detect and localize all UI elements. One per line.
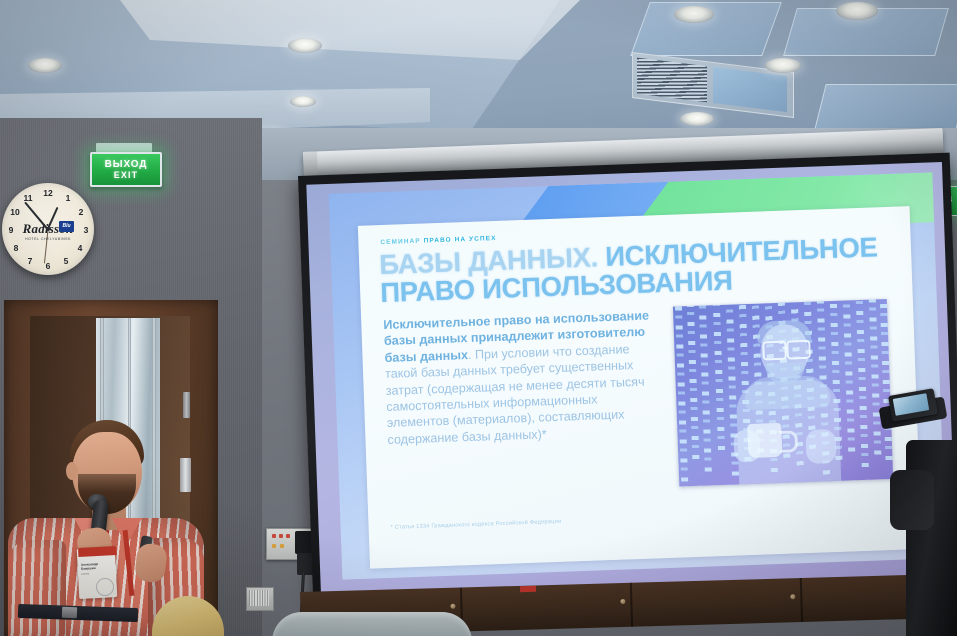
hvac-grille	[637, 58, 707, 103]
ceiling-downlight	[288, 38, 322, 53]
projector-screen-housing-cap	[303, 151, 318, 178]
slide-body-text: Исключительное право на использование ба…	[383, 307, 656, 448]
av-indicator-light	[272, 544, 276, 548]
ceiling-downlight	[290, 96, 316, 107]
clock-numeral: 4	[74, 244, 86, 253]
exit-sign-label-ru: ВЫХОД	[105, 159, 148, 170]
audience-chair	[272, 612, 472, 636]
wall-clock: 12 1 2 3 4 5 6 7 8 9 10 11 Radisson Blu …	[2, 183, 94, 275]
screen-surface: СЕМИНАР ПРАВО НА УСПЕХ БАЗЫ ДАННЫХ. ИСКЛ…	[306, 162, 956, 598]
slide-image-person	[725, 317, 849, 485]
clock-numeral: 2	[75, 208, 87, 217]
cabinet-seam	[630, 583, 633, 627]
slide-footnote: * Статья 1334 Гражданского кодекса Росси…	[391, 513, 721, 531]
speaker-belt-buckle	[62, 607, 77, 619]
slide-title: БАЗЫ ДАННЫХ. ИСКЛЮЧИТЕЛЬНОЕ ПРАВО ИСПОЛЬ…	[379, 233, 901, 308]
av-indicator-light	[279, 534, 283, 538]
projection-screen: СЕМИНАР ПРАВО НА УСПЕХ БАЗЫ ДАННЫХ. ИСКЛ…	[298, 152, 957, 615]
hvac-panel	[713, 67, 787, 112]
exit-sign-label-en: EXIT	[114, 170, 138, 180]
clock-numeral: 5	[60, 257, 72, 266]
clock-numeral: 10	[9, 208, 21, 217]
conference-room-photo: 12 1 2 3 4 5 6 7 8 9 10 11 Radisson Blu …	[0, 0, 957, 636]
slide-body-strong: Исключительное	[383, 314, 490, 332]
slide-content-card: СЕМИНАР ПРАВО НА УСПЕХ БАЗЫ ДАННЫХ. ИСКЛ…	[358, 206, 922, 569]
clock-numeral: 1	[62, 194, 74, 203]
speaker-ear	[66, 462, 78, 480]
av-indicator-light	[280, 544, 284, 548]
av-indicator-light	[272, 534, 276, 538]
cabinet-seam	[800, 578, 803, 622]
clock-numeral: 7	[24, 257, 36, 266]
slide-eyebrow-prefix: СЕМИНАР	[380, 238, 423, 247]
clock-numeral: 12	[42, 189, 54, 198]
ceiling-downlight	[674, 6, 714, 23]
exit-sign: ВЫХОД EXIT	[90, 152, 162, 187]
ceiling-downlight	[28, 58, 62, 73]
presentation-slide: СЕМИНАР ПРАВО НА УСПЕХ БАЗЫ ДАННЫХ. ИСКЛ…	[329, 172, 946, 579]
clock-numeral: 8	[10, 244, 22, 253]
clock-numeral: 11	[22, 194, 34, 203]
slide-title-part1-strong: ИСКЛЮЧИТЕЛЬНОЕ	[605, 231, 878, 272]
ceiling-downlight	[765, 58, 801, 73]
wall-vent-grille	[249, 590, 269, 606]
person-hand-right	[805, 429, 836, 464]
clock-center-pin	[46, 227, 50, 231]
ceiling-inlay-panel	[814, 84, 957, 130]
clock-brand-subtitle: HOTEL CHELYABINSK	[6, 237, 90, 241]
slide-eyebrow-strong: ПРАВО НА УСПЕХ	[424, 235, 497, 245]
ceiling-downlight	[680, 112, 714, 126]
cabinet-knob[interactable]	[790, 594, 795, 599]
screen-label-sticker	[520, 586, 536, 592]
slide-image-matrix	[673, 299, 893, 487]
person-glasses-right	[786, 340, 811, 360]
door-hinge	[183, 392, 190, 418]
speaker-arm-left	[8, 540, 66, 636]
av-indicator-light	[286, 534, 290, 538]
ceiling-downlight	[836, 2, 878, 20]
person-glasses-left	[762, 341, 787, 361]
person-mug-handle	[777, 430, 798, 453]
video-camera-lens	[890, 470, 934, 530]
cabinet-knob[interactable]	[450, 604, 455, 609]
cabinet-knob[interactable]	[620, 599, 625, 604]
clock-brand-badge: Blu	[59, 221, 74, 232]
speaker-badge-name: Александр Бояршин	[81, 561, 113, 571]
person-glasses-bridge	[782, 347, 787, 349]
